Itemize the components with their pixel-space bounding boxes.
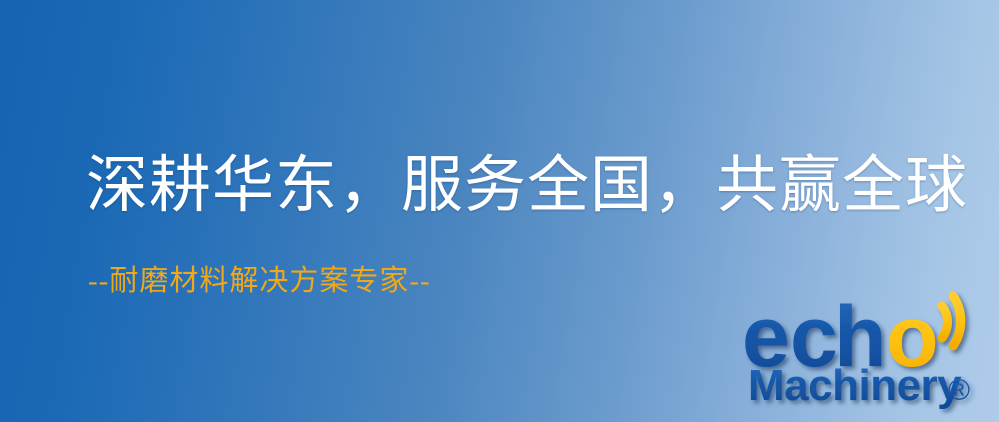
banner-headline: 深耕华东，服务全国，共赢全球	[86, 152, 968, 220]
promotional-banner: 深耕华东，服务全国，共赢全球 --耐磨材料解决方案专家--	[0, 0, 999, 422]
echo-machinery-logo[interactable]: e c h o	[742, 292, 994, 420]
logo-tagline: Machinery ®	[748, 360, 994, 418]
logo-tagline-text: Machinery	[748, 361, 962, 410]
registered-trademark-icon: ®	[948, 374, 970, 407]
signal-wave-icon	[942, 296, 961, 346]
banner-subtitle: --耐磨材料解决方案专家--	[88, 264, 431, 299]
